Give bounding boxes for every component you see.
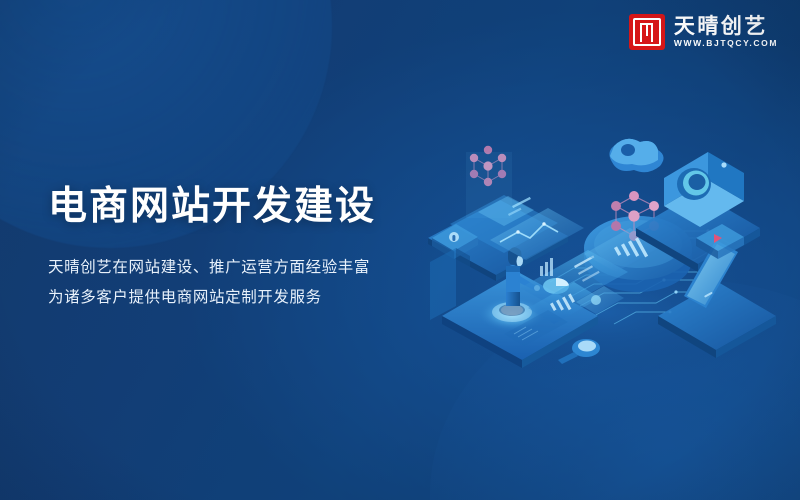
subtitle: 天晴创艺在网站建设、推广运营方面经验丰富 为诸多客户提供电商网站定制开发服务 bbox=[48, 253, 468, 313]
brand-logo[interactable]: 天晴创艺 WWW.BJTQCY.COM bbox=[629, 14, 778, 50]
subtitle-line-1: 天晴创艺在网站建设、推广运营方面经验丰富 bbox=[48, 253, 468, 283]
marketing-banner: 电商网站开发建设 天晴创艺在网站建设、推广运营方面经验丰富 为诸多客户提供电商网… bbox=[0, 0, 800, 500]
subtitle-line-2: 为诸多客户提供电商网站定制开发服务 bbox=[48, 283, 468, 313]
cloud-shape bbox=[609, 139, 663, 172]
page-title: 电商网站开发建设 bbox=[48, 185, 468, 230]
logo-website-url: WWW.BJTQCY.COM bbox=[674, 39, 778, 48]
logo-company-name: 天晴创艺 bbox=[674, 16, 778, 37]
logo-mark-icon bbox=[629, 14, 665, 50]
copy-block: 电商网站开发建设 天晴创艺在网站建设、推广运营方面经验丰富 为诸多客户提供电商网… bbox=[48, 185, 468, 313]
light-beam bbox=[466, 152, 512, 218]
